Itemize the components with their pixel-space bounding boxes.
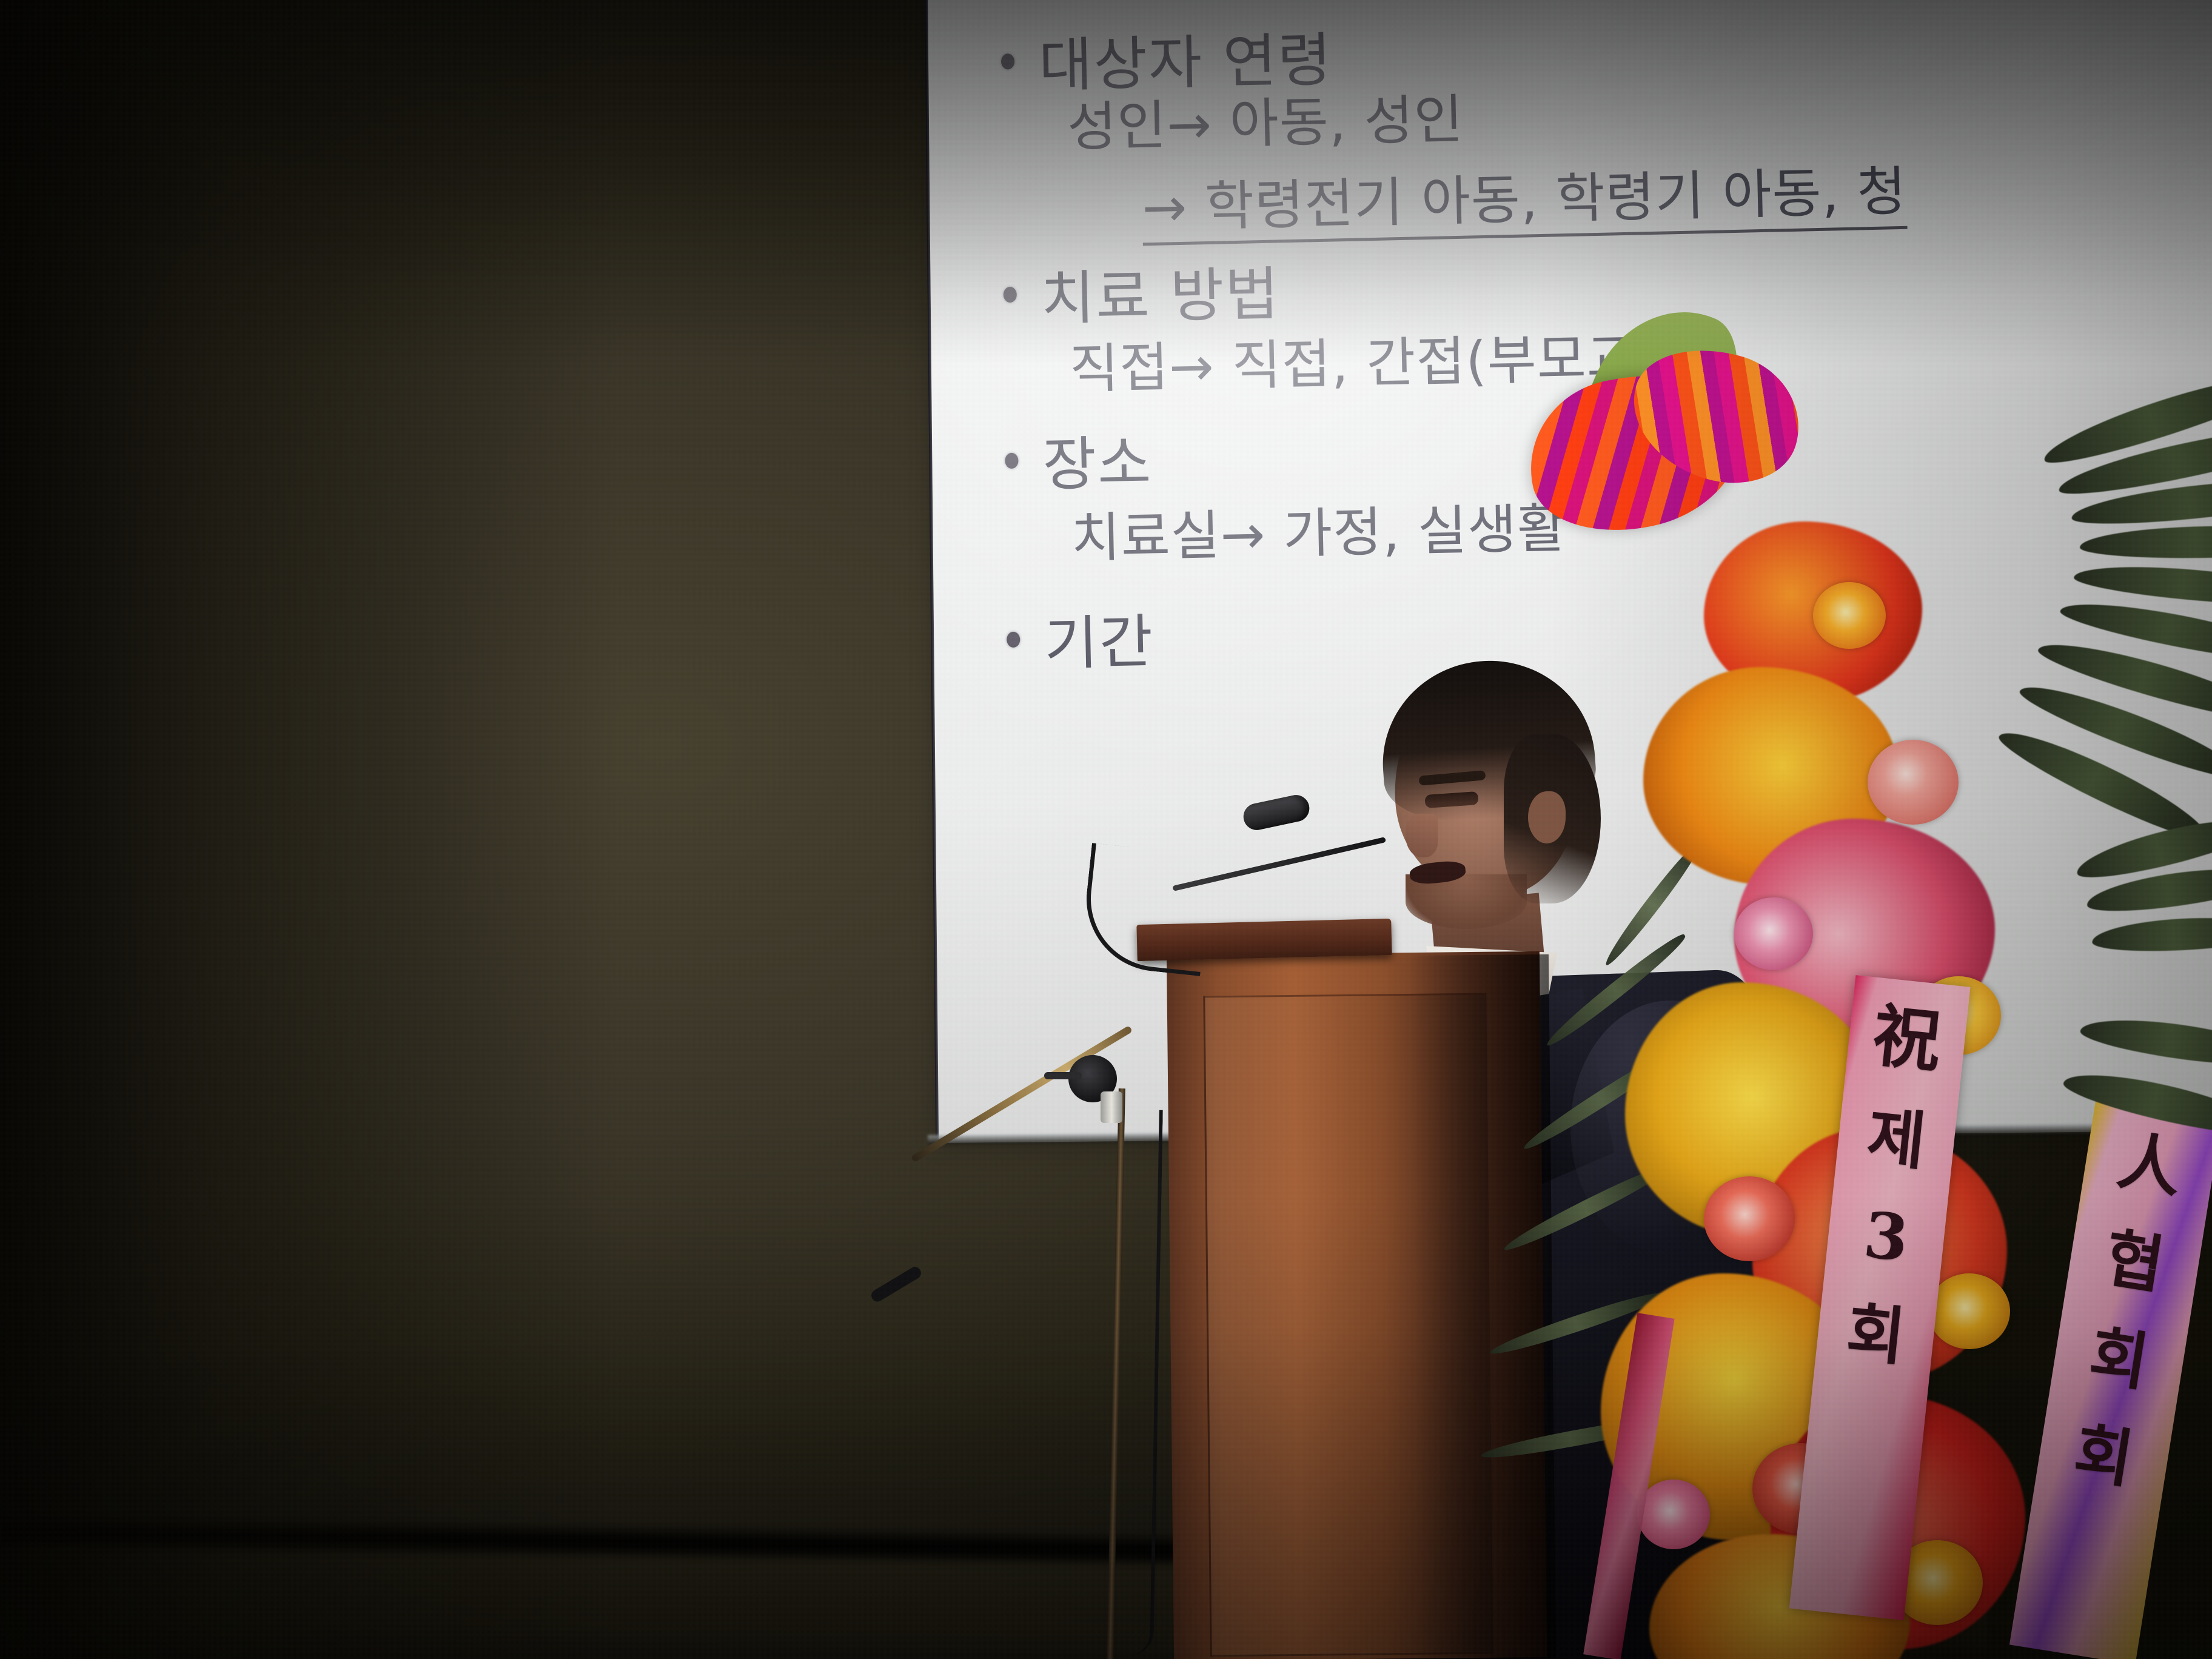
photograph-scene: 대상자 연령 성인→ 아동, 성인 → 학령전기 아동, 학령기 아동, 청 치…: [0, 0, 2212, 1659]
photo-vignette: [0, 0, 2212, 1659]
